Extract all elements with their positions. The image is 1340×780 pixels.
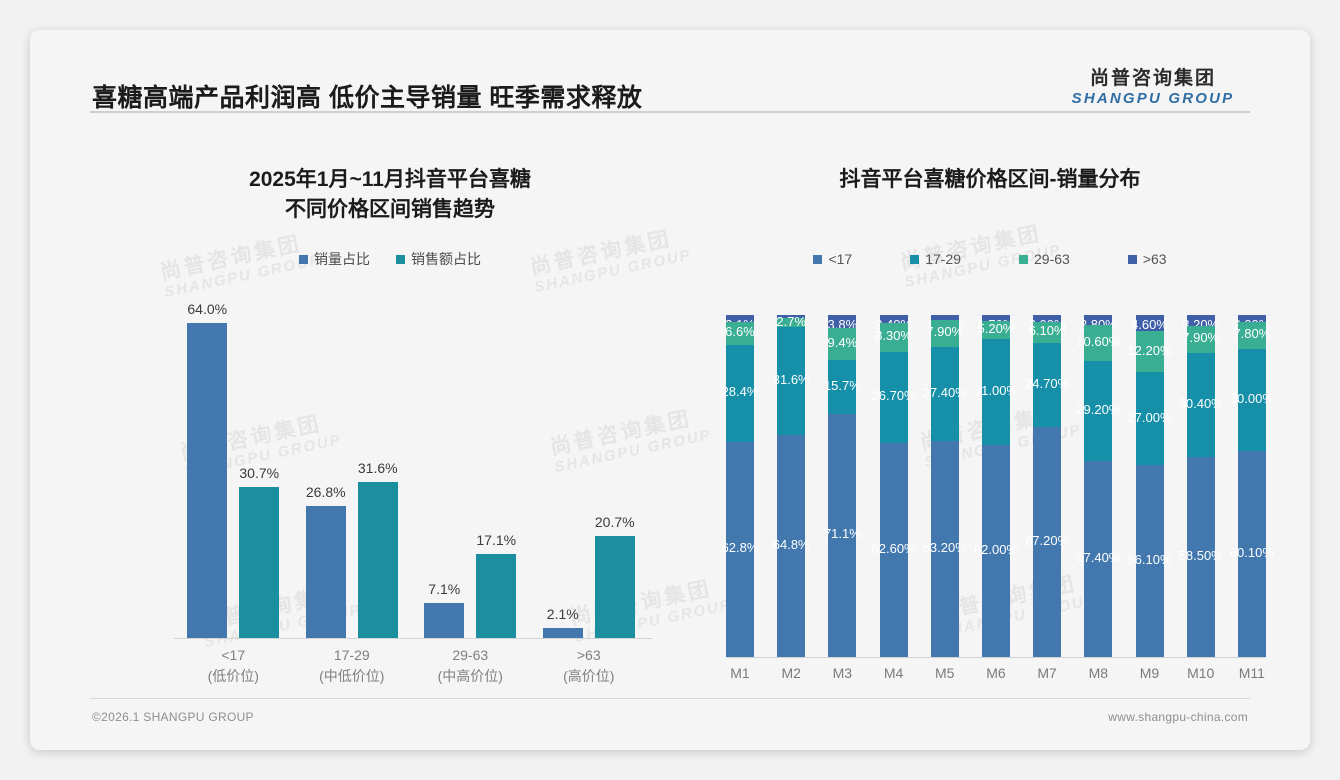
legend-swatch-icon: [299, 255, 308, 264]
bar-value-label: 64.0%: [187, 301, 227, 317]
x-axis-tick-label: M2: [777, 665, 805, 681]
bar-group: 26.8%31.6%: [293, 293, 412, 638]
left-x-axis-labels: <17(低价位)17-29(中低价位)29-63(中高价位)>63(高价位): [174, 645, 648, 687]
x-axis-tick-label: 29-63(中高价位): [411, 645, 530, 687]
segment-value-label: 12.20%: [1127, 343, 1171, 358]
left-chart-title-line2: 不同价格区间销售趋势: [90, 195, 690, 225]
right-chart-panel: 抖音平台喜糖价格区间-销量分布 <1717-2929-63>63 2.1%6.6…: [710, 125, 1270, 705]
right-chart-legend: <1717-2929-63>63: [710, 251, 1270, 267]
stack-segment[interactable]: 30.40%: [1187, 353, 1215, 457]
legend-item[interactable]: >63: [1128, 251, 1167, 267]
bar-group: 2.1%20.7%: [530, 293, 649, 638]
segment-value-label: 7.80%: [1233, 326, 1270, 341]
segment-value-label: 57.40%: [1076, 550, 1120, 565]
presentation-slide: 喜糖高端产品利润高 低价主导销量 旺季需求释放 尚普咨询集团 SHANGPU G…: [30, 30, 1310, 750]
stack-segment[interactable]: 15.7%: [828, 360, 856, 414]
bar[interactable]: 31.6%: [358, 482, 398, 638]
x-tick-range: >63: [530, 645, 649, 666]
segment-value-label: 6.10%: [1029, 323, 1066, 338]
legend-swatch-icon: [1128, 255, 1137, 264]
right-stacked-bar-chart: 2.1%6.6%28.4%62.8%0.9%2.7%31.6%64.8%3.8%…: [718, 315, 1270, 705]
x-axis-tick-label: <17(低价位): [174, 645, 293, 687]
segment-value-label: 31.6%: [773, 372, 810, 387]
stack-segment[interactable]: 57.40%: [1084, 461, 1112, 657]
bar-group: 64.0%30.7%: [174, 293, 293, 638]
segment-value-label: 9.4%: [828, 335, 858, 350]
left-chart-title-line1: 2025年1月~11月抖音平台喜糖: [90, 165, 690, 195]
stacked-bar[interactable]: 3.20%7.90%30.40%58.50%: [1187, 315, 1215, 657]
stacked-bar[interactable]: 4.60%12.20%27.00%56.10%: [1136, 315, 1164, 657]
right-plot-area: 2.1%6.6%28.4%62.8%0.9%2.7%31.6%64.8%3.8%…: [726, 315, 1266, 657]
legend-item[interactable]: 29-63: [1019, 251, 1070, 267]
segment-value-label: 7.90%: [1182, 330, 1219, 345]
legend-item[interactable]: 17-29: [910, 251, 961, 267]
bar-value-label: 2.1%: [547, 606, 579, 622]
x-axis-tick-label: 17-29(中低价位): [293, 645, 412, 687]
bar[interactable]: 2.1%: [543, 628, 583, 638]
segment-value-label: 62.60%: [872, 541, 916, 556]
bar[interactable]: 7.1%: [424, 603, 464, 638]
legend-swatch-icon: [1019, 255, 1028, 264]
legend-label: 29-63: [1034, 251, 1070, 267]
segment-value-label: 15.7%: [824, 378, 861, 393]
left-axis-baseline: [174, 638, 652, 639]
segment-value-label: 26.70%: [872, 388, 916, 403]
bar-value-label: 26.8%: [306, 484, 346, 500]
x-axis-tick-label: M1: [726, 665, 754, 681]
segment-value-label: 30.00%: [1230, 391, 1274, 406]
x-tick-sublabel: (高价位): [530, 666, 649, 687]
stack-segment[interactable]: 71.1%: [828, 414, 856, 657]
stack-segment[interactable]: 56.10%: [1136, 465, 1164, 657]
stack-segment[interactable]: 31.6%: [777, 327, 805, 435]
segment-value-label: 24.70%: [1025, 376, 1069, 391]
legend-label: 销量占比: [314, 249, 370, 269]
right-x-axis-labels: M1M2M3M4M5M6M7M8M9M10M11: [726, 665, 1266, 681]
segment-value-label: 62.8%: [722, 540, 759, 555]
stack-segment[interactable]: 6.10%: [1033, 322, 1061, 343]
left-chart-panel: 2025年1月~11月抖音平台喜糖 不同价格区间销售趋势 销量占比销售额占比 6…: [90, 125, 690, 705]
segment-value-label: 71.1%: [824, 526, 861, 541]
legend-swatch-icon: [910, 255, 919, 264]
stack-segment[interactable]: 2.80%: [1084, 315, 1112, 325]
x-axis-tick-label: M3: [828, 665, 856, 681]
stack-segment[interactable]: 67.20%: [1033, 427, 1061, 657]
x-axis-tick-label: >63(高价位): [530, 645, 649, 687]
stack-segment[interactable]: 58.50%: [1187, 457, 1215, 657]
segment-value-label: 64.8%: [773, 537, 810, 552]
stack-segment[interactable]: 62.60%: [880, 443, 908, 657]
footer-copyright: ©2026.1 SHANGPU GROUP: [92, 710, 254, 724]
segment-value-label: 27.40%: [923, 385, 967, 400]
stack-segment[interactable]: 64.8%: [777, 435, 805, 657]
stack-segment[interactable]: 4.60%: [1136, 315, 1164, 331]
stacked-bar[interactable]: 1.70%5.20%31.00%62.00%: [982, 315, 1010, 657]
slide-header: 喜糖高端产品利润高 低价主导销量 旺季需求释放 尚普咨询集团 SHANGPU G…: [30, 30, 1310, 112]
segment-value-label: 5.20%: [978, 321, 1015, 336]
stack-segment[interactable]: 7.80%: [1238, 322, 1266, 349]
stack-segment[interactable]: 62.00%: [982, 445, 1010, 657]
x-tick-range: <17: [174, 645, 293, 666]
segment-value-label: 7.90%: [926, 324, 963, 339]
x-tick-range: 17-29: [293, 645, 412, 666]
x-axis-tick-label: M10: [1187, 665, 1215, 681]
company-logo: 尚普咨询集团 SHANGPU GROUP: [1058, 68, 1248, 108]
stack-segment[interactable]: 60.10%: [1238, 451, 1266, 657]
segment-value-label: 27.00%: [1127, 410, 1171, 425]
stack-segment[interactable]: 8.30%: [880, 323, 908, 351]
legend-item[interactable]: <17: [813, 251, 852, 267]
stacked-bar[interactable]: 1.40%7.90%27.40%63.20%: [931, 315, 959, 657]
stack-segment[interactable]: 27.40%: [931, 347, 959, 441]
stack-segment[interactable]: 7.90%: [931, 320, 959, 347]
bar[interactable]: 30.7%: [239, 487, 279, 638]
x-axis-tick-label: M11: [1238, 665, 1266, 681]
x-axis-tick-label: M8: [1084, 665, 1112, 681]
stack-segment[interactable]: 2.40%: [880, 315, 908, 323]
bar-value-label: 30.7%: [239, 465, 279, 481]
bar-group: 7.1%17.1%: [411, 293, 530, 638]
x-tick-range: 29-63: [411, 645, 530, 666]
segment-value-label: 6.6%: [725, 324, 755, 339]
stack-segment[interactable]: 62.8%: [726, 442, 754, 657]
left-chart-title: 2025年1月~11月抖音平台喜糖 不同价格区间销售趋势: [90, 125, 690, 225]
left-grouped-bar-chart: 64.0%30.7%26.8%31.6%7.1%17.1%2.1%20.7% <…: [100, 293, 680, 703]
footer-website: www.shangpu-china.com: [1108, 710, 1248, 724]
bar-value-label: 31.6%: [358, 460, 398, 476]
stack-segment[interactable]: 10.60%: [1084, 325, 1112, 361]
left-plot-area: 64.0%30.7%26.8%31.6%7.1%17.1%2.1%20.7%: [174, 293, 648, 638]
stack-segment[interactable]: 63.20%: [931, 441, 959, 657]
x-axis-tick-label: M7: [1033, 665, 1061, 681]
bar-value-label: 20.7%: [595, 514, 635, 530]
stacked-bar[interactable]: 3.8%9.4%15.7%71.1%: [828, 315, 856, 657]
segment-value-label: 63.20%: [923, 540, 967, 555]
segment-value-label: 29.20%: [1076, 402, 1120, 417]
legend-label: 17-29: [925, 251, 961, 267]
legend-item[interactable]: 销售额占比: [396, 249, 481, 269]
stacked-bar[interactable]: 2.00%7.80%30.00%60.10%: [1238, 315, 1266, 657]
logo-chinese-text: 尚普咨询集团: [1058, 68, 1248, 90]
legend-label: 销售额占比: [411, 249, 481, 269]
segment-value-label: 62.00%: [974, 542, 1018, 557]
stack-segment[interactable]: 2.00%: [1033, 315, 1061, 322]
stack-segment[interactable]: 6.6%: [726, 322, 754, 345]
stacked-bar[interactable]: 2.80%10.60%29.20%57.40%: [1084, 315, 1112, 657]
right-axis-baseline: [726, 657, 1266, 658]
x-tick-sublabel: (中低价位): [293, 666, 412, 687]
bar-value-label: 17.1%: [476, 532, 516, 548]
stack-segment[interactable]: 31.00%: [982, 339, 1010, 445]
legend-label: >63: [1143, 251, 1167, 267]
stack-segment[interactable]: 2.1%: [726, 315, 754, 322]
segment-value-label: 8.30%: [875, 328, 912, 343]
left-chart-legend: 销量占比销售额占比: [90, 249, 690, 269]
stack-segment[interactable]: 24.70%: [1033, 343, 1061, 427]
bar[interactable]: 64.0%: [187, 323, 227, 638]
stacked-bar[interactable]: 0.9%2.7%31.6%64.8%: [777, 315, 805, 657]
stack-segment[interactable]: 29.20%: [1084, 361, 1112, 461]
segment-value-label: 60.10%: [1230, 545, 1274, 560]
stack-segment[interactable]: 2.7%: [777, 318, 805, 327]
stack-segment[interactable]: 26.70%: [880, 352, 908, 443]
x-axis-tick-label: M4: [880, 665, 908, 681]
stack-segment[interactable]: 2.00%: [1238, 315, 1266, 322]
bar-value-label: 7.1%: [428, 581, 460, 597]
legend-label: <17: [828, 251, 852, 267]
bar[interactable]: 26.8%: [306, 506, 346, 638]
segment-value-label: 31.00%: [974, 383, 1018, 398]
x-axis-tick-label: M6: [982, 665, 1010, 681]
segment-value-label: 67.20%: [1025, 533, 1069, 548]
stack-segment[interactable]: 7.90%: [1187, 326, 1215, 353]
x-axis-tick-label: M9: [1136, 665, 1164, 681]
stacked-bar[interactable]: 2.00%6.10%24.70%67.20%: [1033, 315, 1061, 657]
stacked-bar[interactable]: 2.40%8.30%26.70%62.60%: [880, 315, 908, 657]
header-divider: [90, 111, 1250, 113]
footer-divider: [90, 698, 1250, 699]
bar[interactable]: 17.1%: [476, 554, 516, 638]
x-tick-sublabel: (低价位): [174, 666, 293, 687]
stack-segment[interactable]: 12.20%: [1136, 331, 1164, 373]
legend-item[interactable]: 销量占比: [299, 249, 370, 269]
segment-value-label: 28.4%: [722, 384, 759, 399]
stack-segment[interactable]: 5.20%: [982, 321, 1010, 339]
segment-value-label: 56.10%: [1127, 552, 1171, 567]
stack-segment[interactable]: 30.00%: [1238, 349, 1266, 452]
x-axis-tick-label: M5: [931, 665, 959, 681]
page-title: 喜糖高端产品利润高 低价主导销量 旺季需求释放: [92, 78, 642, 114]
x-tick-sublabel: (中高价位): [411, 666, 530, 687]
bar[interactable]: 20.7%: [595, 536, 635, 638]
logo-english-text: SHANGPU GROUP: [1058, 90, 1248, 108]
segment-value-label: 10.60%: [1076, 334, 1120, 349]
stack-segment[interactable]: 3.8%: [828, 315, 856, 328]
stacked-bar[interactable]: 2.1%6.6%28.4%62.8%: [726, 315, 754, 657]
stack-segment[interactable]: 3.20%: [1187, 315, 1215, 326]
stack-segment[interactable]: 27.00%: [1136, 372, 1164, 464]
legend-swatch-icon: [813, 255, 822, 264]
segment-value-label: 58.50%: [1179, 548, 1223, 563]
stack-segment[interactable]: 28.4%: [726, 345, 754, 442]
legend-swatch-icon: [396, 255, 405, 264]
right-chart-title: 抖音平台喜糖价格区间-销量分布: [710, 125, 1270, 195]
stack-segment[interactable]: 9.4%: [828, 328, 856, 360]
segment-value-label: 30.40%: [1179, 396, 1223, 411]
